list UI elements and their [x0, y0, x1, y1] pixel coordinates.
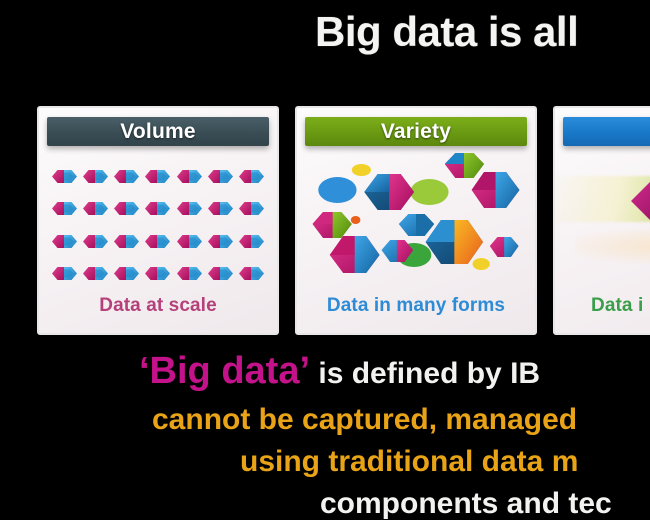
card-variety[interactable]: Variety — [295, 106, 537, 335]
cube-arrow-icon — [113, 265, 140, 282]
variety-cube-blue-pink-mid — [399, 214, 434, 236]
cube-arrow-icon — [144, 168, 171, 185]
cube-arrow-icon — [82, 168, 109, 185]
variety-cube-pink-blue-lower — [330, 236, 380, 273]
body-line-1-rest: is defined by IB — [310, 357, 540, 390]
variety-cube-blue-pink-large — [364, 174, 414, 210]
cube-arrow-icon — [176, 265, 203, 282]
cube-arrow-icon — [144, 265, 171, 282]
card-variety-header-label: Variety — [381, 120, 451, 144]
variety-ellipse-blue — [318, 177, 356, 203]
variety-ellipse-yellow — [352, 164, 371, 176]
variety-shapes-illustration — [301, 152, 531, 302]
variety-ellipse-yellow-2 — [473, 258, 490, 270]
cube-arrow-icon — [238, 168, 265, 185]
page-title: Big data is all — [315, 8, 578, 56]
card-volume[interactable]: Volume — [37, 106, 279, 335]
card-velocity-header: Ve — [563, 117, 650, 146]
body-line-1: ‘Big data’ is defined by IB — [139, 352, 540, 392]
cube-arrow-icon — [51, 265, 78, 282]
cube-arrow-icon — [113, 233, 140, 250]
cube-arrow-icon — [176, 168, 203, 185]
cube-arrow-icon — [207, 233, 234, 250]
card-volume-caption: Data at scale — [39, 295, 277, 317]
variety-cube-pink-green-left — [313, 212, 352, 238]
cube-arrow-icon — [207, 200, 234, 217]
cube-arrow-icon — [144, 233, 171, 250]
card-velocity[interactable]: Ve Data i — [553, 106, 650, 335]
cube-arrow-icon — [82, 233, 109, 250]
cube-arrow-icon — [176, 233, 203, 250]
variety-cube-pink-blue-right — [472, 172, 520, 208]
cube-arrow-icon — [238, 233, 265, 250]
cube-arrow-icon — [144, 200, 171, 217]
variety-cube-orange-blue-large — [426, 220, 483, 264]
cube-arrow-icon — [82, 265, 109, 282]
cube-arrow-icon — [51, 200, 78, 217]
variety-cube-pink-green-small — [445, 153, 484, 178]
velocity-diamond-icon — [629, 178, 650, 224]
card-volume-header-label: Volume — [120, 120, 196, 144]
volume-icon-grid — [49, 160, 267, 290]
cube-arrow-icon — [207, 168, 234, 185]
variety-ellipse-orange — [351, 216, 361, 224]
cube-arrow-icon — [51, 168, 78, 185]
cube-arrow-icon — [51, 233, 78, 250]
card-volume-header: Volume — [47, 117, 269, 146]
body-line-4: components and tec — [320, 488, 612, 519]
cube-arrow-icon — [207, 265, 234, 282]
body-line-2: cannot be captured, managed — [152, 404, 577, 435]
card-velocity-caption: Data i — [555, 295, 650, 317]
cube-arrow-icon — [238, 265, 265, 282]
card-variety-caption: Data in many forms — [297, 295, 535, 317]
cube-arrow-icon — [176, 200, 203, 217]
big-data-quoted-term: ‘Big data’ — [139, 350, 310, 392]
cube-arrow-icon — [113, 168, 140, 185]
variety-ellipse-green — [410, 179, 448, 205]
slide-canvas: Big data is all Volume — [0, 0, 650, 520]
cube-arrow-icon — [113, 200, 140, 217]
velocity-glow — [575, 226, 650, 266]
card-variety-header: Variety — [305, 117, 527, 146]
cube-arrow-icon — [238, 200, 265, 217]
body-line-3: using traditional data m — [240, 446, 578, 477]
variety-cube-pink-blue-tiny — [490, 237, 519, 257]
cube-arrow-icon — [82, 200, 109, 217]
